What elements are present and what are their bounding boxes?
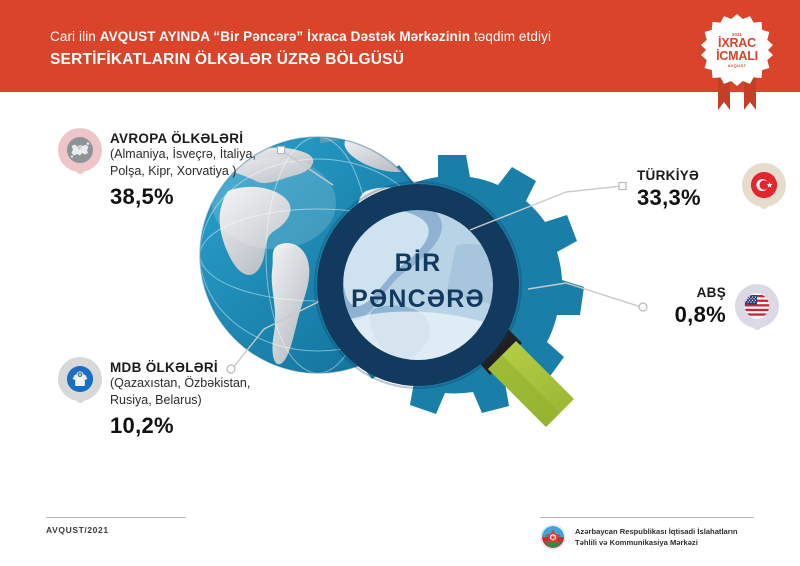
header-subtitle-suffix: təqdim etdiyi (470, 29, 551, 44)
connector-endpoint-abs (639, 303, 647, 311)
stat-avropa-sub-1: (Almaniya, İsveçrə, İtaliya, (110, 146, 256, 163)
footer-org-line2: Təhlili və Kommunikasiya Mərkəzi (575, 537, 737, 548)
stat-turkiye: TÜRKİYƏ 33,3% (637, 168, 701, 211)
footer-org-line1: Azərbaycan Respublikası İqtisadi İslahat… (575, 526, 737, 537)
header-subtitle-prefix: Cari ilin (50, 29, 100, 44)
infographic-canvas: Cari ilin AVQUST AYINDA “Bir Pəncərə” İx… (0, 0, 800, 566)
stat-mdb-title: MDB ÖLKƏLƏRİ (110, 360, 250, 375)
turkey-flag-glyph (751, 172, 777, 198)
europe-map-pin-icon (58, 128, 102, 182)
cis-emblem-glyph (67, 366, 93, 392)
stat-turkiye-title: TÜRKİYƏ (637, 168, 701, 183)
stat-abs-value: 0,8% (648, 302, 726, 328)
header-text-block: Cari ilin AVQUST AYINDA “Bir Pəncərə” İx… (50, 28, 650, 70)
stat-mdb-sub-1: (Qazaxıstan, Özbəkistan, (110, 375, 250, 392)
badge-title-line1: İXRAC (718, 37, 756, 50)
badge-title-line2: İCMALI (716, 50, 758, 63)
stat-mdb-sub-2: Rusiya, Belarus) (110, 392, 250, 409)
stat-abs-title: ABŞ (648, 285, 726, 300)
azerbaijan-emblem-icon (540, 524, 566, 550)
lens-label-line1: BİR (395, 249, 442, 277)
ixrac-icmali-badge: 2021 İXRAC İCMALI AVQUST (694, 12, 780, 110)
europe-map-glyph (67, 137, 93, 163)
turkey-flag-pin-icon (742, 163, 786, 217)
badge-month: AVQUST (728, 63, 747, 68)
footer-divider-right (540, 517, 754, 518)
stat-avropa: AVROPA ÖLKƏLƏRİ (Almaniya, İsveçrə, İtal… (110, 131, 256, 210)
header-title: SERTİFİKATLARIN ÖLKƏLƏR ÜZRƏ BÖLGÜSÜ (50, 49, 650, 70)
stat-avropa-value: 38,5% (110, 184, 256, 210)
stat-avropa-sub-2: Polşa, Kipr, Xorvatiya ) (110, 163, 256, 180)
header-subtitle-bold: AVQUST AYINDA “Bir Pəncərə” İxraca Dəstə… (100, 29, 470, 44)
footer-organization: Azərbaycan Respublikası İqtisadi İslahat… (540, 524, 737, 550)
stat-turkiye-value: 33,3% (637, 185, 701, 211)
stat-abs: ABŞ 0,8% (648, 285, 726, 328)
stat-mdb: MDB ÖLKƏLƏRİ (Qazaxıstan, Özbəkistan, Ru… (110, 360, 250, 439)
stat-avropa-title: AVROPA ÖLKƏLƏRİ (110, 131, 256, 146)
footer-divider-left (46, 517, 186, 518)
stat-mdb-value: 10,2% (110, 413, 250, 439)
header-subtitle: Cari ilin AVQUST AYINDA “Bir Pəncərə” İx… (50, 28, 650, 47)
footer-organization-text: Azərbaycan Respublikası İqtisadi İslahat… (575, 526, 737, 548)
cis-emblem-pin-icon (58, 357, 102, 411)
footer-date: AVQUST/2021 (46, 525, 109, 535)
usa-flag-glyph (744, 293, 770, 319)
lens-label-line2: PƏNCƏRƏ (351, 285, 485, 313)
usa-flag-pin-icon (735, 284, 779, 338)
badge-content: 2021 İXRAC İCMALI AVQUST (701, 14, 773, 86)
